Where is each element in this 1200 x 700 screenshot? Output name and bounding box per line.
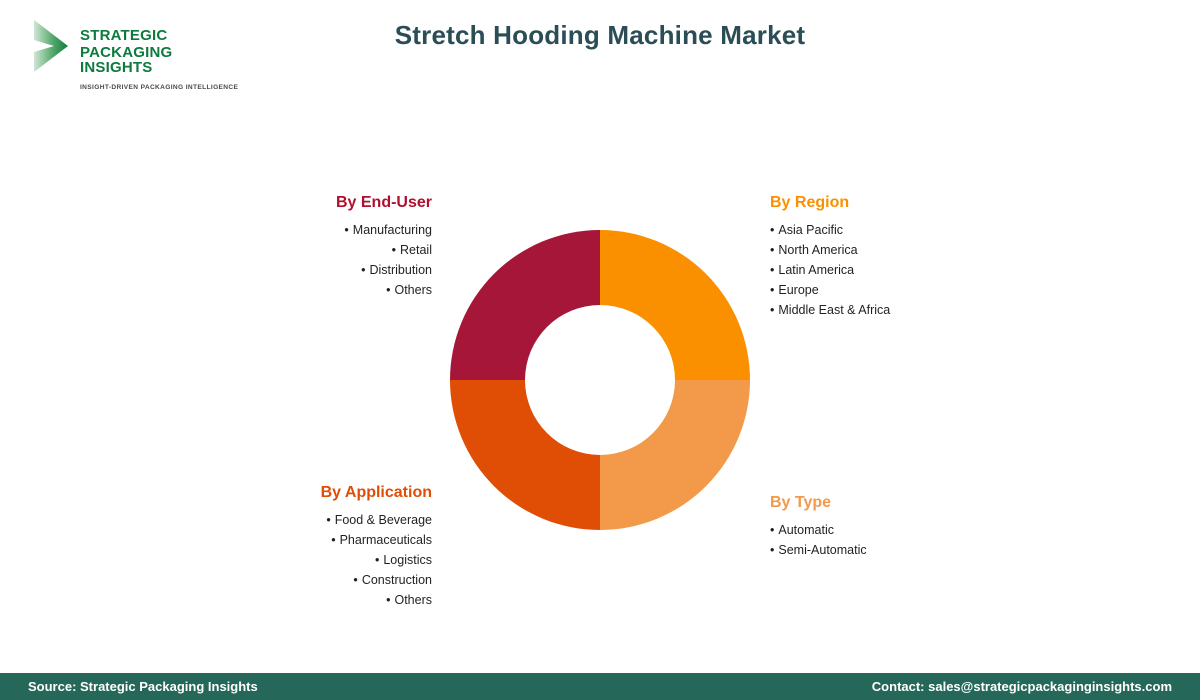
list-item: •Automatic bbox=[770, 520, 1030, 540]
list-item-label: Middle East & Africa bbox=[778, 303, 890, 317]
bullet-icon: • bbox=[770, 243, 774, 257]
segment-list-type: •Automatic •Semi-Automatic bbox=[770, 520, 1030, 560]
footer-contact[interactable]: Contact: sales@strategicpackaginginsight… bbox=[872, 679, 1172, 694]
bullet-icon: • bbox=[386, 283, 390, 297]
list-item: •Europe bbox=[770, 280, 1030, 300]
bullet-icon: • bbox=[770, 223, 774, 237]
bullet-icon: • bbox=[770, 283, 774, 297]
bullet-icon: • bbox=[361, 263, 365, 277]
list-item-label: Logistics bbox=[383, 553, 432, 567]
bullet-icon: • bbox=[331, 533, 335, 547]
bullet-icon: • bbox=[392, 243, 396, 257]
footer-source: Source: Strategic Packaging Insights bbox=[28, 679, 258, 694]
list-item-label: Manufacturing bbox=[353, 223, 432, 237]
segment-heading-application: By Application bbox=[190, 483, 432, 503]
list-item: •Logistics bbox=[190, 550, 432, 570]
donut-chart bbox=[450, 230, 750, 530]
segment-heading-type: By Type bbox=[770, 493, 1030, 513]
list-item: •Manufacturing bbox=[190, 220, 432, 240]
bullet-icon: • bbox=[770, 263, 774, 277]
list-item: •Semi-Automatic bbox=[770, 540, 1030, 560]
list-item: •Distribution bbox=[190, 260, 432, 280]
list-item-label: Asia Pacific bbox=[778, 223, 843, 237]
bullet-icon: • bbox=[770, 303, 774, 317]
bullet-icon: • bbox=[770, 523, 774, 537]
segment-list-end-user: •Manufacturing •Retail •Distribution •Ot… bbox=[190, 220, 432, 300]
list-item-label: Others bbox=[394, 283, 432, 297]
page-title: Stretch Hooding Machine Market bbox=[0, 20, 1200, 51]
list-item-label: Others bbox=[394, 593, 432, 607]
list-item-label: Semi-Automatic bbox=[778, 543, 866, 557]
list-item-label: Europe bbox=[778, 283, 818, 297]
list-item: •Middle East & Africa bbox=[770, 300, 1030, 320]
list-item: •Latin America bbox=[770, 260, 1030, 280]
list-item-label: Construction bbox=[362, 573, 432, 587]
segment-heading-region: By Region bbox=[770, 193, 1030, 213]
footer-bar: Source: Strategic Packaging Insights Con… bbox=[0, 673, 1200, 700]
list-item: •Others bbox=[190, 590, 432, 610]
segment-heading-end-user: By End-User bbox=[190, 193, 432, 213]
list-item: •Others bbox=[190, 280, 432, 300]
list-item-label: Automatic bbox=[778, 523, 834, 537]
list-item: •North America bbox=[770, 240, 1030, 260]
list-item-label: North America bbox=[778, 243, 857, 257]
list-item-label: Food & Beverage bbox=[335, 513, 432, 527]
segment-block-end-user: By End-User •Manufacturing •Retail •Dist… bbox=[190, 193, 432, 300]
donut-center-hole bbox=[525, 305, 675, 455]
logo-tagline: INSIGHT-DRIVEN PACKAGING INTELLIGENCE bbox=[80, 84, 238, 91]
list-item: •Construction bbox=[190, 570, 432, 590]
donut-chart-svg bbox=[450, 230, 750, 530]
list-item: •Food & Beverage bbox=[190, 510, 432, 530]
bullet-icon: • bbox=[326, 513, 330, 527]
segment-block-application: By Application •Food & Beverage •Pharmac… bbox=[190, 483, 432, 610]
list-item-label: Pharmaceuticals bbox=[340, 533, 432, 547]
segment-list-region: •Asia Pacific •North America •Latin Amer… bbox=[770, 220, 1030, 320]
segment-block-type: By Type •Automatic •Semi-Automatic bbox=[770, 493, 1030, 560]
list-item: •Asia Pacific bbox=[770, 220, 1030, 240]
bullet-icon: • bbox=[770, 543, 774, 557]
segment-list-application: •Food & Beverage •Pharmaceuticals •Logis… bbox=[190, 510, 432, 610]
bullet-icon: • bbox=[344, 223, 348, 237]
bullet-icon: • bbox=[375, 553, 379, 567]
bullet-icon: • bbox=[386, 593, 390, 607]
list-item: •Retail bbox=[190, 240, 432, 260]
list-item-label: Retail bbox=[400, 243, 432, 257]
segment-block-region: By Region •Asia Pacific •North America •… bbox=[770, 193, 1030, 320]
list-item-label: Distribution bbox=[369, 263, 432, 277]
infographic-page: STRATEGIC PACKAGING INSIGHTS INSIGHT-DRI… bbox=[0, 0, 1200, 700]
list-item: •Pharmaceuticals bbox=[190, 530, 432, 550]
list-item-label: Latin America bbox=[778, 263, 854, 277]
bullet-icon: • bbox=[353, 573, 357, 587]
